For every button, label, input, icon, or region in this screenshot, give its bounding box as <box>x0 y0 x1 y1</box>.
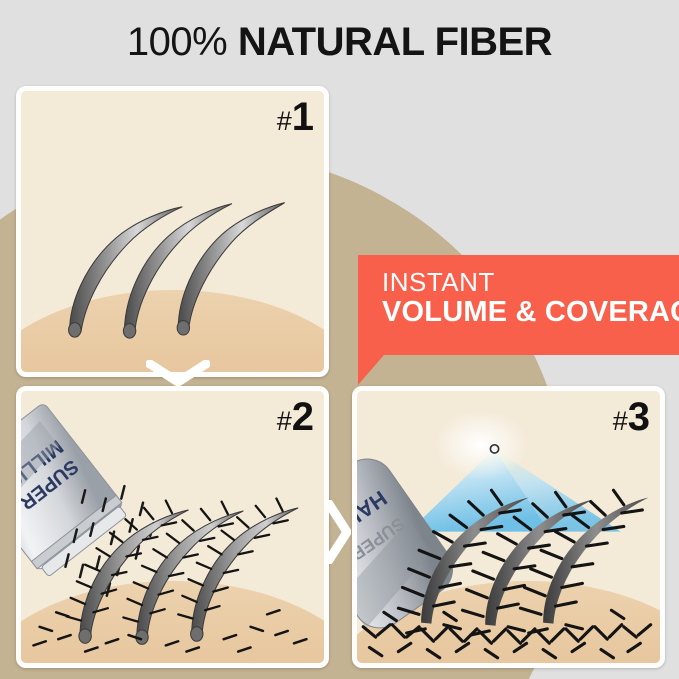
arrow-step-2-to-3 <box>325 500 351 564</box>
banner-line-2: VOLUME & COVERAGE <box>382 296 679 328</box>
spray-nozzle <box>490 445 498 453</box>
badge-hash-1: # <box>277 106 292 136</box>
arrow-step-1-to-2 <box>146 360 210 386</box>
badge-number-1: 1 <box>292 95 314 139</box>
badge-hash-2: # <box>277 406 292 436</box>
badge-number-2: 2 <box>292 395 314 439</box>
fiber-coated-strand-3 <box>178 499 298 642</box>
title-prefix: 100% <box>127 20 227 64</box>
step-panel-2: SUPER MILLION <box>16 386 329 668</box>
promo-banner: INSTANT VOLUME & COVERAGE <box>358 255 679 355</box>
infographic-root: 100% NATURAL FIBER <box>0 0 679 679</box>
badge-hash-3: # <box>613 406 628 436</box>
badge-number-3: 3 <box>628 395 650 439</box>
banner-line-1: INSTANT <box>382 269 679 296</box>
step-badge-3: #3 <box>613 397 650 437</box>
page-title: 100% NATURAL FIBER <box>0 20 679 65</box>
step-panel-3: SUPER HAIR <box>352 386 665 668</box>
scattered-scalp-fibers <box>33 610 306 651</box>
banner-tail <box>358 355 384 385</box>
step-panel-1: #1 <box>16 86 329 377</box>
step-badge-2: #2 <box>277 397 314 437</box>
step-badge-1: #1 <box>277 97 314 137</box>
title-emphasis: NATURAL FIBER <box>238 20 552 64</box>
spray-mist <box>434 410 529 480</box>
